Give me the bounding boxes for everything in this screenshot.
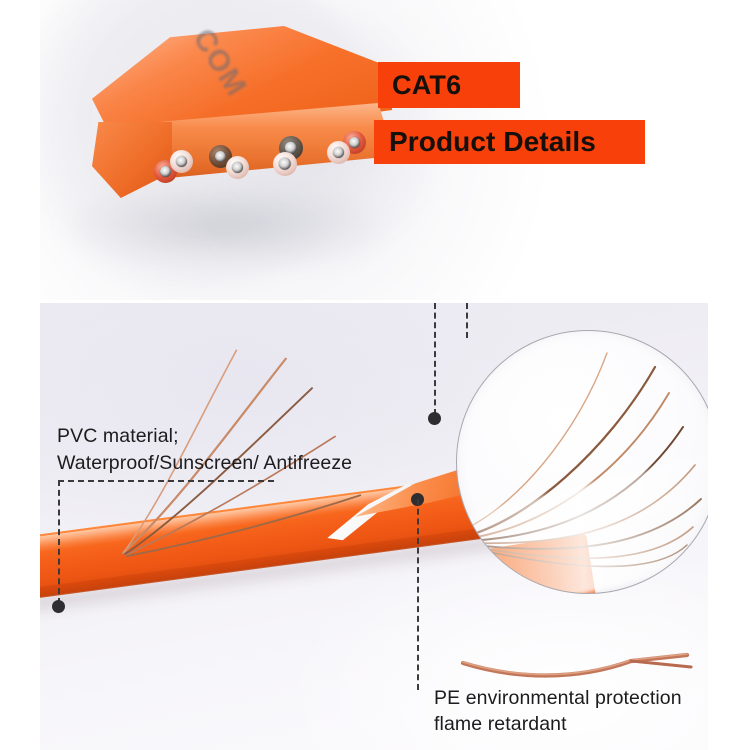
callout-pe-line1: PE environmental protection bbox=[434, 686, 682, 711]
pe-wire-sample bbox=[455, 645, 695, 685]
cable-cross-section: COM bbox=[92, 26, 402, 241]
magnifier-leader-vertical bbox=[434, 303, 436, 415]
banner-cat6: CAT6 bbox=[378, 62, 520, 108]
magnifier-circle bbox=[456, 330, 708, 594]
conductor-6 bbox=[273, 152, 297, 176]
magnifier-marker-dot bbox=[428, 412, 441, 425]
product-detail-page: COM CAT6 Product Details bbox=[0, 0, 750, 750]
conductor-4 bbox=[226, 156, 249, 179]
callout-pvc-leader-vertical bbox=[58, 480, 60, 604]
bottom-photo-panel bbox=[40, 303, 708, 750]
callout-pe-line2: flame retardant bbox=[434, 712, 567, 737]
callout-pvc-line2: Waterproof/Sunscreen/ Antifreeze bbox=[57, 451, 352, 476]
callout-pvc-leader-horizontal bbox=[58, 480, 274, 482]
circle-leader-vertical bbox=[466, 303, 468, 338]
banner-product-details: Product Details bbox=[374, 120, 645, 164]
conductor-8 bbox=[327, 141, 350, 164]
callout-pvc-marker-dot bbox=[52, 600, 65, 613]
callout-pe-leader-vertical bbox=[417, 499, 419, 690]
callout-pvc-line1: PVC material; bbox=[57, 424, 179, 449]
conductor-2 bbox=[170, 150, 193, 173]
